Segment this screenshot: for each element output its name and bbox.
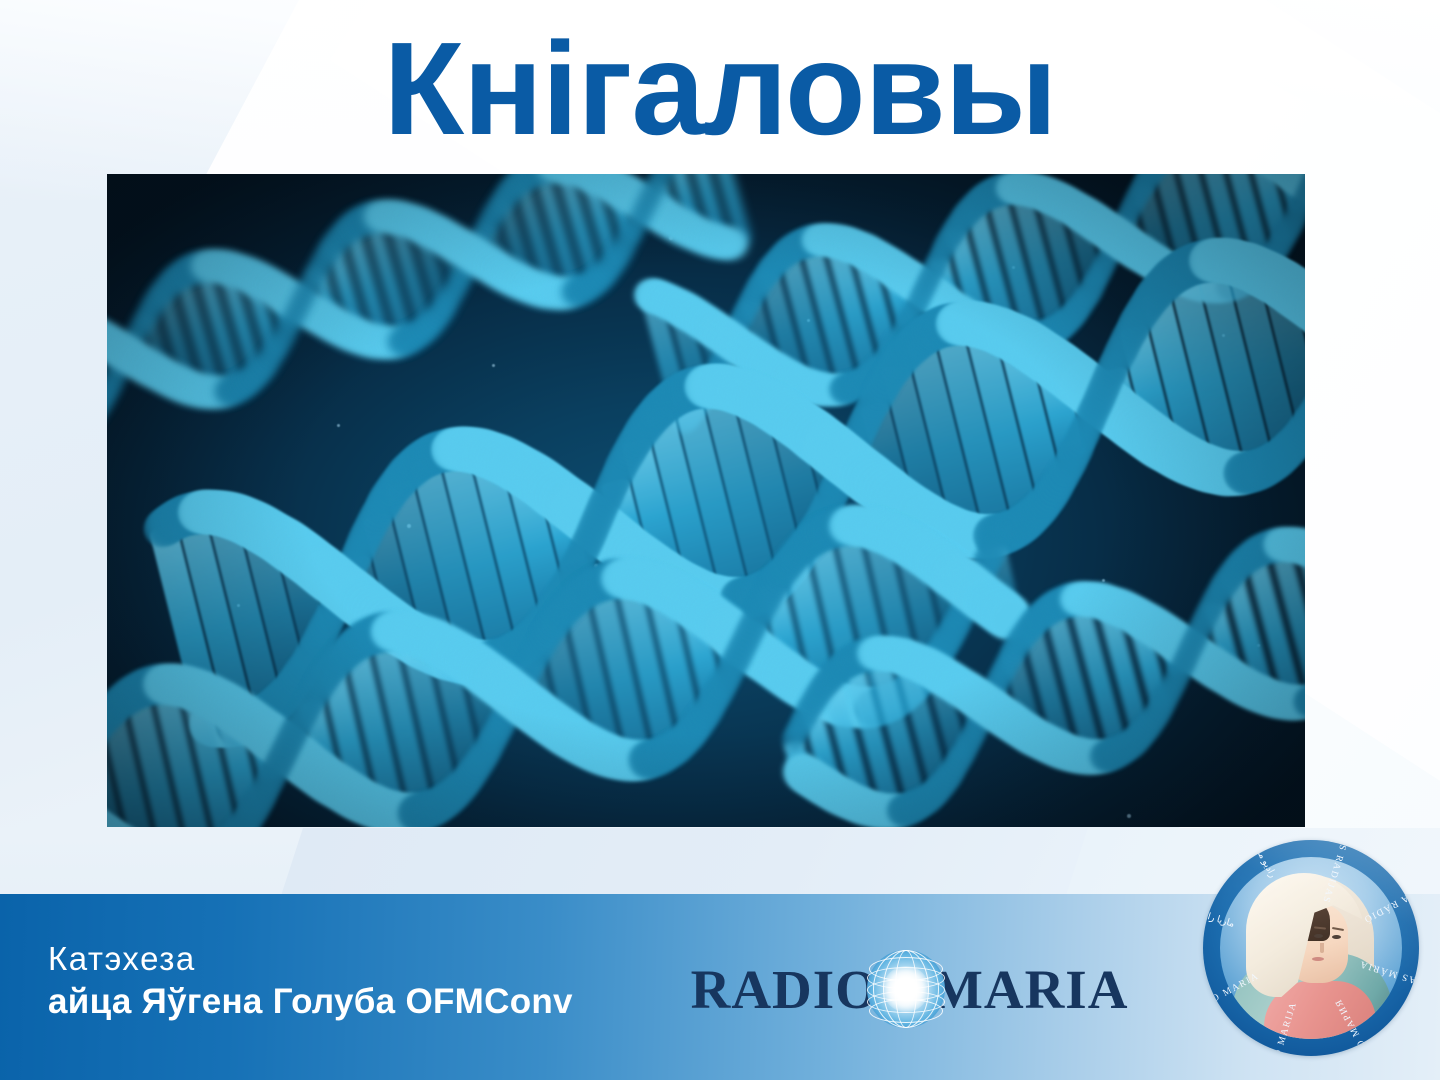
radio-maria-seal-logo: RADIO MARIAماريا راديوراديو مارياMARIJOS… xyxy=(1203,840,1419,1056)
radio-maria-word-radio: RADIO xyxy=(691,962,879,1017)
presentation-slide: Кнігаловы Катэхеза айца Яўгена Голуба OF… xyxy=(0,0,1440,1080)
dna-image-vignette xyxy=(107,174,1305,827)
dna-image xyxy=(107,174,1305,827)
footer-caption: Катэхеза айца Яўгена Голуба OFMConv xyxy=(48,940,573,1022)
seal-ring-label: راديو ماريا xyxy=(1250,840,1278,880)
seal-ring-label: RADIO MARIA xyxy=(1203,971,1261,1018)
seal-ring-label: РАДИО МАРИЯ xyxy=(1334,996,1383,1056)
globe-icon xyxy=(867,950,945,1028)
caption-line-primary: Катэхеза xyxy=(48,940,573,979)
seal-ring-label: ROZHLAS MÁRIA xyxy=(1358,958,1419,996)
seal-ring-text: RADIO MARIAماريا راديوراديو مارياMARIJOS… xyxy=(1203,840,1419,1056)
seal-ring-label: MARIA RÁDIÓ xyxy=(1361,878,1419,925)
radio-maria-word-maria: MARIA xyxy=(931,962,1128,1017)
seal-ring-label: MARIJOS RADIJAS xyxy=(1320,840,1361,905)
slide-title: Кнігаловы xyxy=(0,22,1440,157)
seal-ring-label: RADIO MARIJA xyxy=(1264,1001,1299,1056)
seal-ring-label: ماريا راديو xyxy=(1203,908,1236,930)
caption-line-secondary: айца Яўгена Голуба OFMConv xyxy=(48,981,573,1022)
radio-maria-wordmark: RADIO MARIA xyxy=(722,955,1097,1023)
